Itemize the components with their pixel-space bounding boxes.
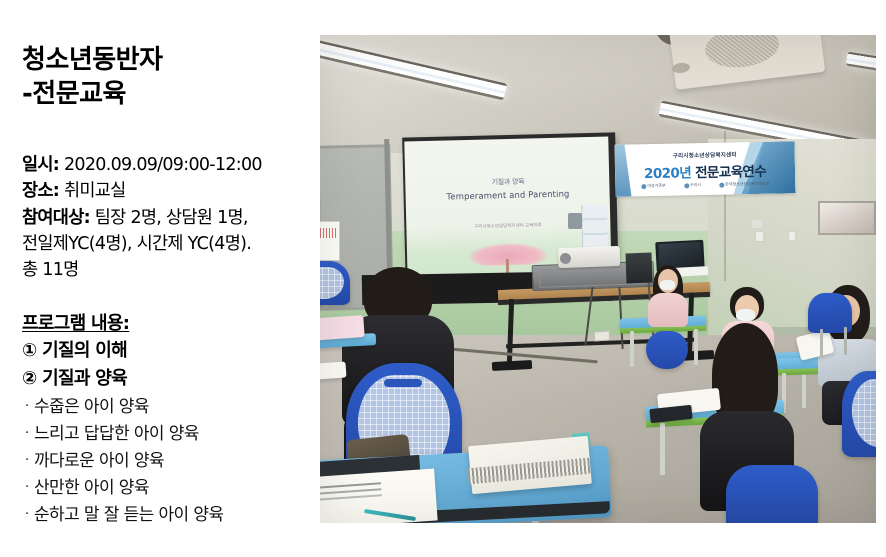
info-row-location: 장소: 취미교실 [22,178,318,204]
info-block: 일시: 2020.09.09/09:00-12:00 장소: 취미교실 참여대상… [22,152,318,283]
bullet-icon: · [25,451,34,472]
list-item-label: 산만한 아이 양육 [34,478,149,498]
face-mask [660,280,675,290]
info-row-participants: 참여대상: 팀장 2명, 상담원 1명, [22,205,318,231]
list-item-label: 느리고 답답한 아이 양육 [34,424,199,444]
info-value-location: 취미교실 [64,181,126,201]
list-item: ·수줍은 아이 양육 [22,394,318,421]
page-title: 청소년동반자 -전문교육 [22,44,312,112]
logo-mark-icon [684,183,689,188]
desk-leg [660,423,665,475]
wall-mounted-device [568,213,582,229]
info-label-datetime: 일시: [22,155,59,175]
event-banner: 구리시청소년상담복지센터 2020년 전문교육연수 여성가족부 구리시 한국청소… [615,141,796,196]
info-value-datetime: 2020.09.09/09:00-12:00 [64,155,262,175]
wall-mounted-panel [752,220,762,228]
chair-handle-slot [384,379,422,387]
wall-poster-left [320,221,340,261]
logo-mark-icon [719,182,724,187]
wall-service-window [818,201,876,235]
list-item-label: 순하고 말 잘 듣는 아이 양육 [34,505,223,525]
participant-back-1 [646,263,692,327]
paper-on-desk [320,361,347,380]
paper-on-desk [320,315,365,341]
bullet-icon: · [25,397,34,418]
chair [646,331,688,369]
info-label-participants: 참여대상: [22,208,90,228]
chair-leg [844,327,847,355]
banner-logo-2: 구리시 [684,182,701,188]
list-item-label: 수줍은 아이 양육 [34,397,149,417]
chair [726,465,818,523]
program-item-2: ② 기질과 양육 [22,365,318,392]
wall-switch-2 [788,231,796,241]
banner-year: 2020년 [644,165,691,182]
banner-main-text: 전문교육연수 [691,164,766,181]
chair-leg [820,329,823,357]
list-item: ·순하고 말 잘 듣는 아이 양육 [22,502,318,529]
info-participants-cont-2: 총 11명 [22,257,318,283]
face-mask [736,309,755,321]
list-item: ·산만한 아이 양육 [22,475,318,502]
torso [648,293,688,327]
bullet-icon: · [25,478,34,499]
floor-power-strip [594,330,611,341]
bullet-icon: · [25,505,34,526]
banner-logo-1: 여성가족부 [641,183,666,189]
info-value-participants: 팀장 2명, 상담원 1명, [95,208,248,228]
program-block: 프로그램 내용: ① 기질의 이해 ② 기질과 양육 ·수줍은 아이 양육 ·느… [22,310,318,528]
foreground-desk-leg [532,521,539,523]
logo-mark-icon [641,184,646,189]
info-label-location: 장소: [22,181,59,201]
list-item-label: 까다로운 아이 양육 [34,451,164,471]
slide-text-column: 청소년동반자 -전문교육 일시: 2020.09.09/09:00-12:00 … [0,0,320,557]
program-sub-list: ·수줍은 아이 양육 ·느리고 답답한 아이 양육 ·까다로운 아이 양육 ·산… [22,394,318,528]
list-item: ·까다로운 아이 양육 [22,448,318,475]
handout-text-lines [320,482,381,488]
banner-logo-3: 한국청소년상담복지개발원 [719,181,769,188]
program-heading: 프로그램 내용: [22,310,318,337]
desk-leg [630,331,634,367]
info-row-datetime: 일시: 2020.09.09/09:00-12:00 [22,152,318,178]
poster-graphic-icon [320,228,336,238]
title-line-2: -전문교육 [22,78,312,112]
title-line-1: 청소년동반자 [22,44,312,78]
bullet-icon: · [25,424,34,445]
program-item-1: ① 기질의 이해 [22,337,318,364]
wall-switch-1 [755,231,764,242]
classroom-photo: 기질과 양육 Temperament and Parenting 구리시청소년상… [320,35,876,523]
info-participants-cont-1: 전일제YC(4명), 시간제 YC(4명). [22,231,318,257]
list-item: ·느리고 답답한 아이 양육 [22,421,318,448]
